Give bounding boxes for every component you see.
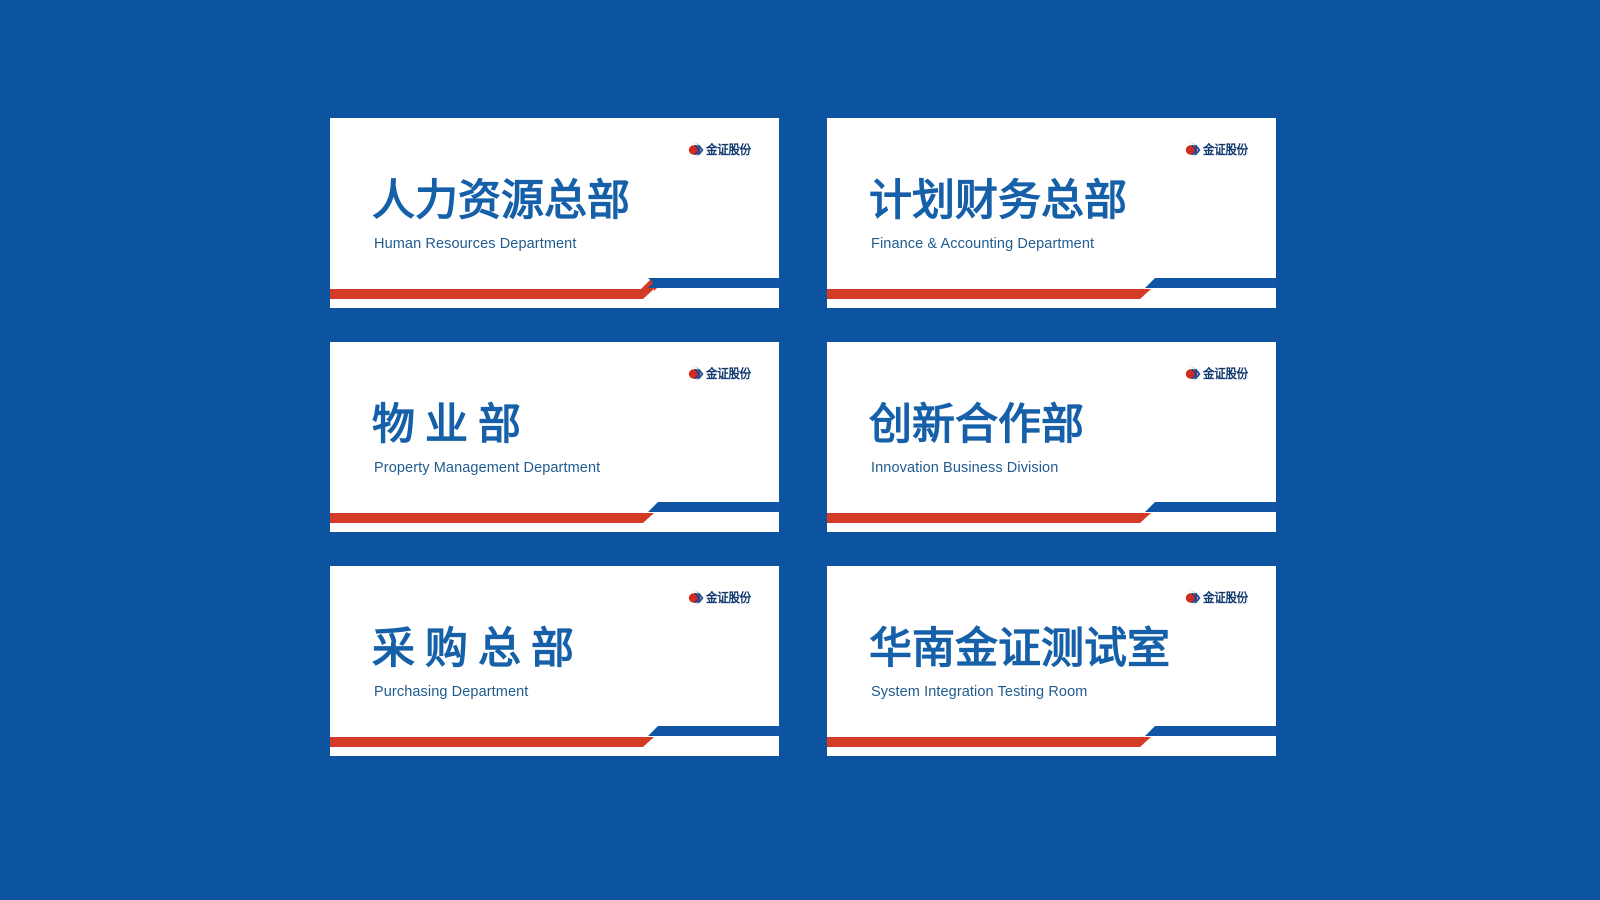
brand-wordmark: 金证股份 xyxy=(706,144,751,157)
jinzheng-c-chevron-logo-icon xyxy=(1181,140,1201,160)
jinzheng-c-chevron-logo-icon xyxy=(1181,588,1201,608)
department-title-en: Purchasing Department xyxy=(374,684,749,700)
sign-card-innovation-business[interactable]: 金证股份 创新合作部 Innovation Business Division xyxy=(827,342,1276,532)
card-text-block: 华南金证测试室 System Integration Testing Room xyxy=(869,624,1246,700)
jinzheng-c-chevron-logo-icon xyxy=(684,588,704,608)
brand-wordmark: 金证股份 xyxy=(706,592,751,605)
department-title-cn: 采购总部 xyxy=(372,624,749,675)
sign-card-system-integration-testing[interactable]: 金证股份 华南金证测试室 System Integration Testing … xyxy=(827,566,1276,756)
department-title-cn: 华南金证测试室 xyxy=(869,624,1246,675)
brand-logo: 金证股份 xyxy=(1181,140,1252,160)
brand-logo: 金证股份 xyxy=(684,364,755,384)
signage-canvas: 金证股份 人力资源总部 Human Resources Department xyxy=(0,0,1600,900)
department-title-en: Human Resources Department xyxy=(374,236,749,252)
sign-card-purchasing[interactable]: 金证股份 采购总部 Purchasing Department xyxy=(330,566,779,756)
accent-stripe xyxy=(330,490,779,532)
accent-stripe-graphic xyxy=(330,266,779,308)
department-title-en: Finance & Accounting Department xyxy=(871,236,1246,252)
accent-stripe xyxy=(827,266,1276,308)
card-text-block: 人力资源总部 Human Resources Department xyxy=(372,176,749,252)
brand-logo: 金证股份 xyxy=(1181,588,1252,608)
accent-stripe-graphic xyxy=(827,490,1276,532)
department-title-cn: 计划财务总部 xyxy=(869,176,1246,227)
brand-logo: 金证股份 xyxy=(684,140,755,160)
brand-wordmark: 金证股份 xyxy=(1203,368,1248,381)
jinzheng-c-chevron-logo-icon xyxy=(684,140,704,160)
department-title-en: Innovation Business Division xyxy=(871,460,1246,476)
accent-stripe xyxy=(330,714,779,756)
brand-wordmark: 金证股份 xyxy=(1203,592,1248,605)
sign-card-grid: 金证股份 人力资源总部 Human Resources Department xyxy=(330,118,1276,756)
department-title-cn: 物业部 xyxy=(372,400,749,451)
accent-stripe xyxy=(330,266,779,308)
accent-stripe xyxy=(827,490,1276,532)
card-text-block: 创新合作部 Innovation Business Division xyxy=(869,400,1246,476)
brand-wordmark: 金证股份 xyxy=(1203,144,1248,157)
accent-stripe xyxy=(827,714,1276,756)
department-title-cn: 人力资源总部 xyxy=(372,176,749,227)
department-title-en: System Integration Testing Room xyxy=(871,684,1246,700)
brand-logo: 金证股份 xyxy=(1181,364,1252,384)
accent-stripe-graphic xyxy=(330,490,779,532)
brand-wordmark: 金证股份 xyxy=(706,368,751,381)
accent-stripe-graphic xyxy=(330,714,779,756)
department-title-cn: 创新合作部 xyxy=(869,400,1246,451)
sign-card-human-resources[interactable]: 金证股份 人力资源总部 Human Resources Department xyxy=(330,118,779,308)
sign-card-finance-accounting[interactable]: 金证股份 计划财务总部 Finance & Accounting Departm… xyxy=(827,118,1276,308)
jinzheng-c-chevron-logo-icon xyxy=(684,364,704,384)
sign-card-property-management[interactable]: 金证股份 物业部 Property Management Department xyxy=(330,342,779,532)
card-text-block: 计划财务总部 Finance & Accounting Department xyxy=(869,176,1246,252)
card-text-block: 采购总部 Purchasing Department xyxy=(372,624,749,700)
accent-stripe-graphic xyxy=(827,266,1276,308)
card-text-block: 物业部 Property Management Department xyxy=(372,400,749,476)
accent-stripe-graphic xyxy=(827,714,1276,756)
jinzheng-c-chevron-logo-icon xyxy=(1181,364,1201,384)
department-title-en: Property Management Department xyxy=(374,460,749,476)
brand-logo: 金证股份 xyxy=(684,588,755,608)
